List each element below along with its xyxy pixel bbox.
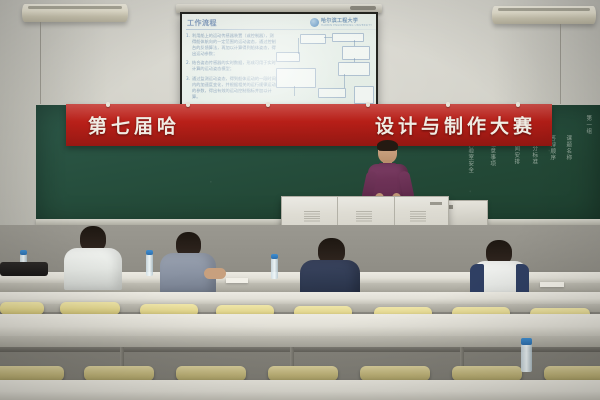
chair (268, 366, 338, 381)
ceiling-light-fixture-left (22, 4, 128, 22)
bullet-text: 利用船上的运动传感器装置（或控制器），测得船体航向的一定范围的运动姿态，通过控制… (192, 33, 276, 57)
water-bottle (271, 258, 278, 279)
ceiling-light-fixture-right (492, 6, 596, 24)
desk-under-shelf (0, 347, 600, 352)
laptop-bag (0, 262, 48, 276)
chalk-note: 实验室安全 (466, 141, 474, 197)
bottle-cap (146, 250, 153, 255)
logo-name: 哈尔滨工程大学 (321, 17, 372, 24)
cabinet-label-plate (430, 202, 442, 205)
chalk-note: 答辩顺序 (548, 135, 556, 209)
bullet-number: 3. (186, 76, 190, 100)
diagram-connector (324, 37, 332, 38)
diagram-connector (294, 86, 295, 96)
attendee-3 (300, 238, 362, 296)
diagram-connector (344, 74, 345, 88)
chalk-note: 注意事项 (488, 141, 496, 199)
document-sheet (226, 278, 248, 283)
banner-pin (266, 102, 270, 107)
desk-leg (460, 347, 464, 367)
diagram-connector (298, 38, 299, 54)
banner-pin (366, 102, 370, 107)
bottle-cap (20, 250, 27, 255)
diagram-connector (354, 40, 355, 46)
banner-pin (446, 102, 450, 107)
attendee-shirt (64, 248, 122, 290)
banner-pin (516, 102, 520, 107)
university-logo: 哈尔滨工程大学 HARBIN ENGINEERING UNIVERSITY (310, 17, 372, 27)
chair (0, 366, 64, 381)
chair (360, 366, 430, 381)
light-cord-left (40, 22, 41, 104)
list-item: 3. 通过监测运动姿态，得到船体运动的一段时间内的加速度变化，并根据相关的运行规… (186, 76, 276, 100)
logo-subtitle: HARBIN ENGINEERING UNIVERSITY (321, 24, 372, 27)
water-bottle (146, 254, 153, 276)
diagram-node (300, 34, 326, 44)
bullet-number: 1. (186, 33, 190, 57)
desk-leg (120, 347, 124, 367)
desk-leg (290, 347, 294, 367)
bullet-text: 通过监测运动姿态，得到船体运动的一段时间内的加速度变化，并根据相关的运行规律运动… (192, 76, 276, 100)
bullet-text: 结合姿态传感器的实时数据，形成可用于实时计算的运动姿态模型； (192, 60, 276, 72)
list-item: 2. 结合姿态传感器的实时数据，形成可用于实时计算的运动姿态模型； (186, 60, 276, 72)
logo-emblem-icon (310, 18, 319, 27)
desk-row-foreground (0, 380, 600, 400)
desk-row-front (0, 314, 600, 336)
diagram-node (276, 52, 300, 62)
diagram-node (354, 86, 374, 104)
water-bottle-foreground (521, 344, 532, 372)
light-cord-right (560, 24, 561, 104)
event-banner: 第七届哈 设计与制作大赛 (66, 104, 552, 146)
attendee-4 (470, 240, 530, 298)
list-item: 1. 利用船上的运动传感器装置（或控制器），测得船体航向的一定范围的运动姿态，通… (186, 33, 276, 57)
diagram-node (332, 33, 364, 42)
diagram-node (318, 88, 346, 98)
diagram-node (342, 46, 370, 60)
chalk-note: 评分标准 (530, 139, 538, 205)
document-sheet (540, 282, 564, 287)
attendee-2 (160, 232, 218, 288)
cabinet-vent (410, 211, 426, 223)
diagram-connector (354, 58, 355, 62)
chair (176, 366, 246, 381)
banner-text-right: 设计与制作大赛 (375, 112, 536, 139)
slide-bullet-list: 1. 利用船上的运动传感器装置（或控制器），测得船体航向的一定范围的运动姿态，通… (186, 33, 276, 103)
chalk-note: 课题名称 (564, 135, 572, 209)
attendee-1 (62, 226, 124, 286)
diagram-node (276, 68, 316, 88)
classroom-presentation-scene: 工作流程 哈尔滨工程大学 HARBIN ENGINEERING UNIVERSI… (0, 0, 600, 400)
cabinet-vent (356, 211, 372, 223)
slide-title: 工作流程 (187, 18, 217, 28)
banner-pin (186, 102, 190, 107)
bottle-cap (271, 254, 278, 259)
presenter-glasses-icon (379, 150, 396, 155)
bottle-cap-foreground (521, 338, 532, 345)
cabinet-vent (304, 211, 320, 223)
attendee-arm (204, 268, 226, 279)
chalk-note: 时间安排 (512, 139, 520, 203)
chair (84, 366, 154, 381)
bullet-number: 2. (186, 60, 190, 72)
slide-title-divider (186, 29, 376, 30)
banner-pin (106, 102, 110, 107)
chalk-note: 第一组 (584, 115, 592, 211)
chair (544, 366, 600, 381)
chair (452, 366, 522, 381)
banner-text-left: 第七届哈 (88, 112, 180, 139)
diagram-node (338, 62, 370, 76)
desk-row-front-panel (0, 336, 600, 347)
